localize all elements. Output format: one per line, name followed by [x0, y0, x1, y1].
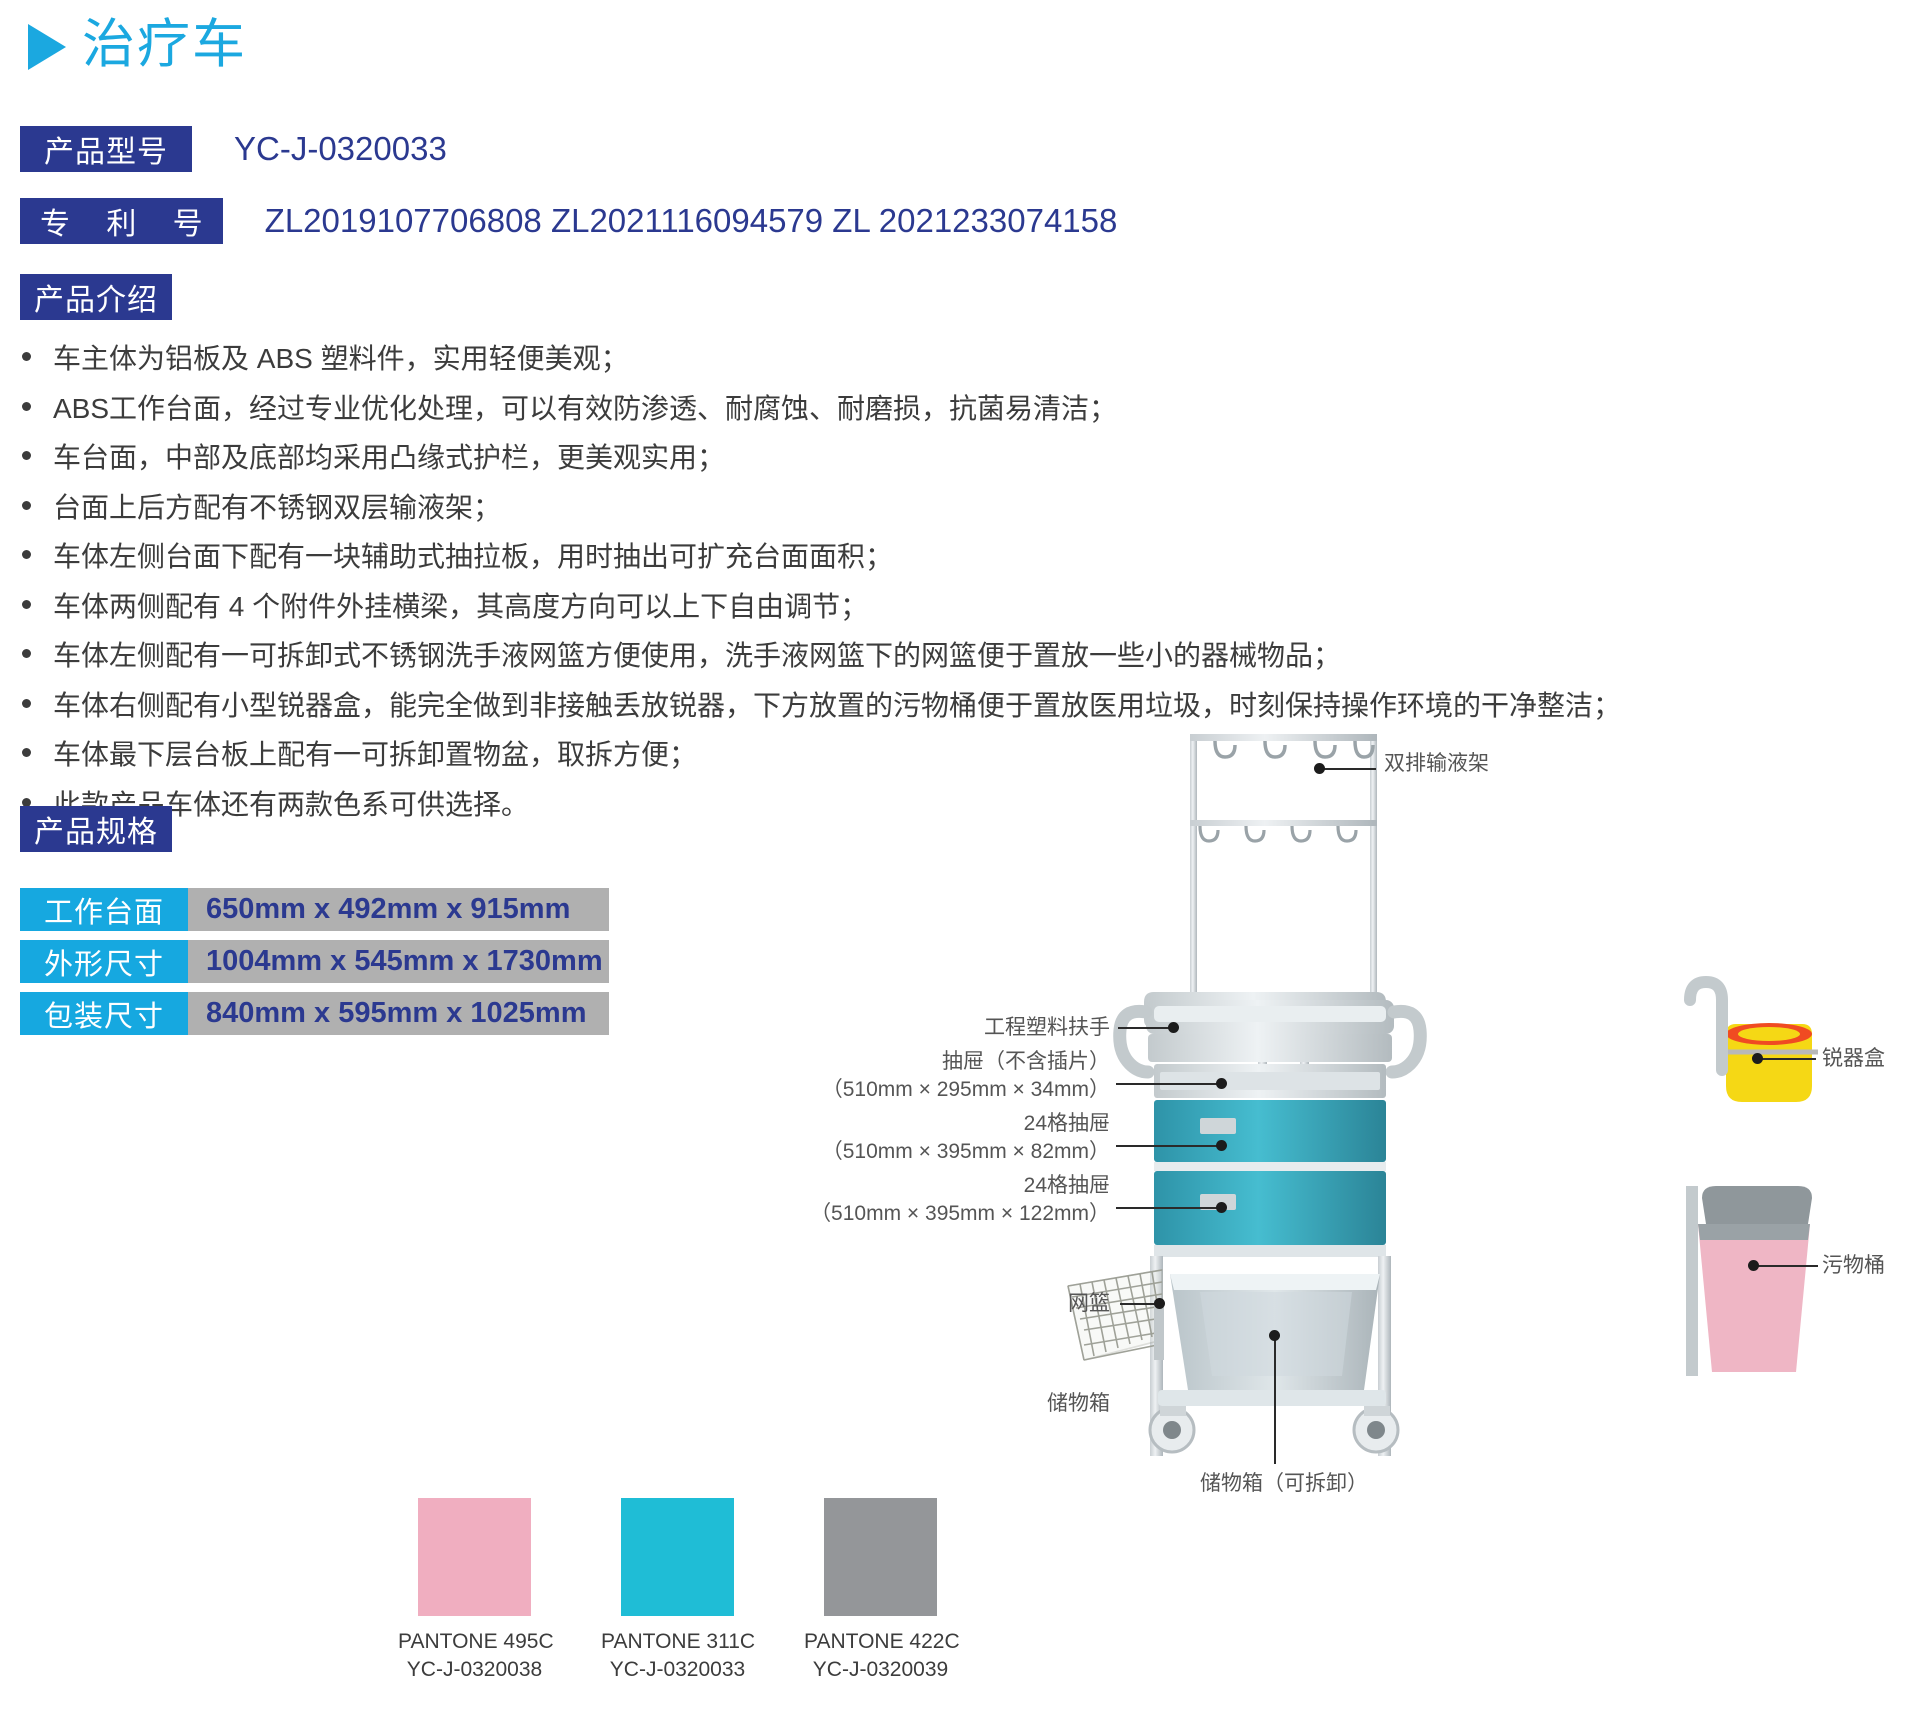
list-item: 车台面，中部及底部均采用凸缘式护栏，更美观实用； [22, 444, 1722, 472]
spec-value: 650mm x 492mm x 915mm [188, 888, 609, 931]
color-swatch: PANTONE 422C YC-J-0320039 [804, 1498, 957, 1685]
table-row: 包装尺寸 840mm x 595mm x 1025mm [20, 992, 609, 1035]
callout-waste-bin: 污物桶 [1822, 1252, 1885, 1280]
patent-number-label: 专 利 号 [20, 198, 223, 244]
feature-text: 车体最下层台板上配有一可拆卸置物盆，取拆方便； [53, 741, 697, 769]
leader-dot-icon [1216, 1202, 1227, 1213]
table-row: 工作台面 650mm x 492mm x 915mm [20, 888, 609, 931]
bullet-dot-icon [22, 649, 31, 658]
feature-text: 台面上后方配有不锈钢双层输液架； [53, 494, 501, 522]
leader-dot-icon [1168, 1022, 1179, 1033]
leader-dot-icon [1269, 1330, 1280, 1341]
leader-line [1120, 1303, 1158, 1305]
callout-drawer-24a-name: 24格抽屉 [740, 1110, 1110, 1138]
leader-dot-icon [1752, 1053, 1763, 1064]
color-chip [418, 1498, 531, 1616]
feature-text: 车主体为铝板及 ABS 塑料件，实用轻便美观； [53, 345, 629, 373]
leader-dot-icon [1748, 1260, 1759, 1271]
swatch-pantone: PANTONE 495C [398, 1628, 551, 1656]
swatch-pantone: PANTONE 422C [804, 1628, 957, 1656]
product-catalog-page: 治疗车 产品型号 YC-J-0320033 专 利 号 ZL2019107706… [0, 0, 1912, 1736]
leader-line [1322, 768, 1376, 770]
table-row: 外形尺寸 1004mm x 545mm x 1730mm [20, 940, 609, 983]
callout-drawer-plain-dim: （510mm × 295mm × 34mm） [740, 1076, 1110, 1104]
callout-storage-bin-bottom: 储物箱（可拆卸） [1200, 1470, 1368, 1498]
bullet-dot-icon [22, 501, 31, 510]
swatch-pantone: PANTONE 311C [601, 1628, 754, 1656]
bullet-dot-icon [22, 699, 31, 708]
spec-table: 工作台面 650mm x 492mm x 915mm 外形尺寸 1004mm x… [20, 888, 609, 1044]
list-item: 车体两侧配有 4 个附件外挂横梁，其高度方向可以上下自由调节； [22, 593, 1722, 621]
color-swatch: PANTONE 495C YC-J-0320038 [398, 1498, 551, 1685]
leader-dot-icon [1216, 1140, 1227, 1151]
bullet-dot-icon [22, 402, 31, 411]
callout-sharps-box: 锐器盒 [1822, 1045, 1885, 1073]
spec-value: 1004mm x 545mm x 1730mm [188, 940, 609, 983]
leader-dot-icon [1314, 763, 1325, 774]
color-swatch-list: PANTONE 495C YC-J-0320038 PANTONE 311C Y… [398, 1498, 957, 1685]
feature-text: ABS工作台面，经过专业优化处理，可以有效防渗透、耐腐蚀、耐磨损，抗菌易清洁； [53, 395, 1117, 423]
leader-line [1116, 1207, 1220, 1209]
leader-line [1756, 1265, 1818, 1267]
feature-text: 车体左侧配有一可拆卸式不锈钢洗手液网篮方便使用，洗手液网篮下的网篮便于置放一些小… [53, 642, 1341, 670]
feature-text: 车体两侧配有 4 个附件外挂横梁，其高度方向可以上下自由调节； [53, 593, 868, 621]
leader-line [1760, 1058, 1816, 1060]
product-illustration: 双排输液架 锐器盒 污物桶 工程塑料扶手 抽屉（不含插片） （510mm × 2… [1050, 700, 1912, 1736]
swatch-model: YC-J-0320038 [398, 1656, 551, 1684]
patent-number-value: ZL2019107706808 ZL2021116094579 ZL 20212… [265, 202, 1118, 240]
leader-line [1118, 1027, 1172, 1029]
color-chip [621, 1498, 734, 1616]
feature-text: 车台面，中部及底部均采用凸缘式护栏，更美观实用； [53, 444, 725, 472]
list-item: 台面上后方配有不锈钢双层输液架； [22, 494, 1722, 522]
swatch-model: YC-J-0320033 [601, 1656, 754, 1684]
leader-line [1116, 1145, 1220, 1147]
swatch-model: YC-J-0320039 [804, 1656, 957, 1684]
spec-key: 外形尺寸 [20, 940, 188, 983]
callout-handle: 工程塑料扶手 [860, 1014, 1110, 1042]
color-swatch: PANTONE 311C YC-J-0320033 [601, 1498, 754, 1685]
leader-line [1274, 1336, 1276, 1464]
list-item: 车主体为铝板及 ABS 塑料件，实用轻便美观； [22, 345, 1722, 373]
product-model-value: YC-J-0320033 [234, 130, 447, 168]
list-item: 车体左侧台面下配有一块辅助式抽拉板，用时抽出可扩充台面面积； [22, 543, 1722, 571]
callout-basket: 网篮 [890, 1290, 1110, 1318]
patent-number-row: 专 利 号 ZL2019107706808 ZL2021116094579 ZL… [20, 198, 1117, 244]
play-triangle-icon [28, 24, 66, 70]
callout-drawer-24b-dim: （510mm × 395mm × 122mm） [740, 1200, 1110, 1228]
product-intro-heading: 产品介绍 [20, 274, 172, 320]
bullet-dot-icon [22, 352, 31, 361]
spec-key: 工作台面 [20, 888, 188, 931]
list-item: ABS工作台面，经过专业优化处理，可以有效防渗透、耐腐蚀、耐磨损，抗菌易清洁； [22, 395, 1722, 423]
product-model-row: 产品型号 YC-J-0320033 [20, 126, 447, 172]
callout-iv-pole: 双排输液架 [1384, 750, 1489, 778]
callout-storage-bin-left: 储物箱 [890, 1390, 1110, 1418]
product-model-label: 产品型号 [20, 126, 192, 172]
spec-key: 包装尺寸 [20, 992, 188, 1035]
medical-cart-image [1050, 700, 1912, 1736]
callout-drawer-24a-dim: （510mm × 395mm × 82mm） [740, 1138, 1110, 1166]
bullet-dot-icon [22, 600, 31, 609]
product-spec-heading: 产品规格 [20, 806, 172, 852]
page-title-text: 治疗车 [82, 16, 247, 74]
callout-drawer-plain-name: 抽屉（不含插片） [740, 1048, 1110, 1076]
spec-value: 840mm x 595mm x 1025mm [188, 992, 609, 1035]
color-chip [824, 1498, 937, 1616]
page-title: 治疗车 [28, 16, 247, 74]
list-item: 车体左侧配有一可拆卸式不锈钢洗手液网篮方便使用，洗手液网篮下的网篮便于置放一些小… [22, 642, 1722, 670]
bullet-dot-icon [22, 748, 31, 757]
leader-line [1116, 1083, 1220, 1085]
feature-text: 车体左侧台面下配有一块辅助式抽拉板，用时抽出可扩充台面面积； [53, 543, 893, 571]
bullet-dot-icon [22, 451, 31, 460]
leader-dot-icon [1216, 1078, 1227, 1089]
leader-dot-icon [1154, 1298, 1165, 1309]
callout-drawer-24b-name: 24格抽屉 [740, 1172, 1110, 1200]
bullet-dot-icon [22, 550, 31, 559]
